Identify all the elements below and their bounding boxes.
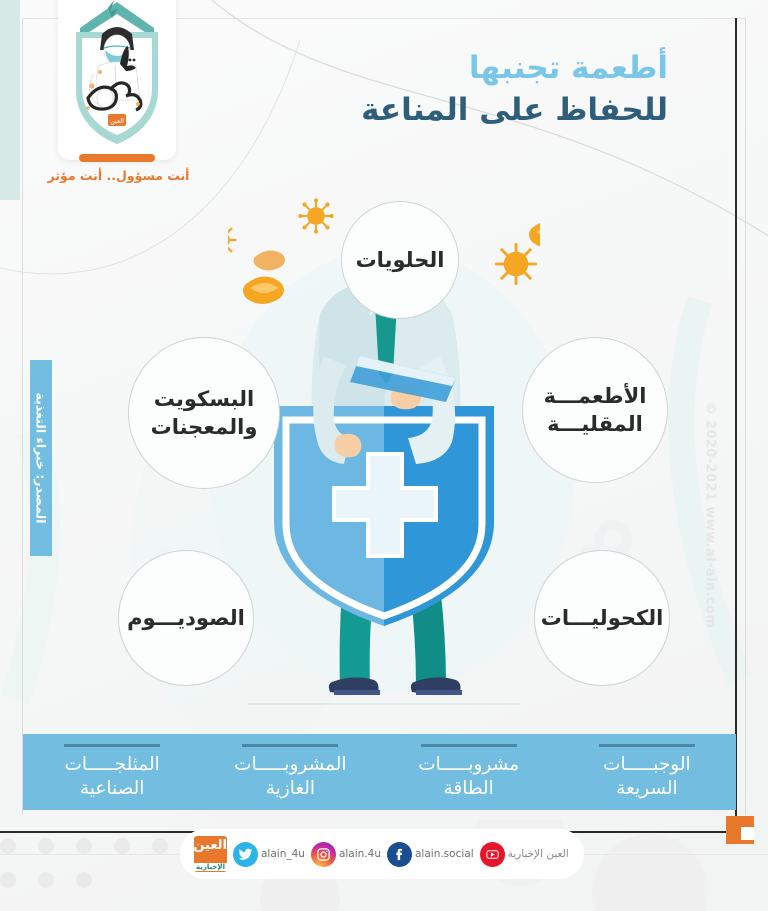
food-bubble-biscuits-pastries[interactable]: البسكويت والمعجنات <box>128 337 280 489</box>
bar-item-soft-drinks[interactable]: المشروبـــــات الغازية <box>201 734 379 800</box>
bar-item-label: مشروبـــــات الطاقة <box>380 753 558 800</box>
bar-item-rule <box>64 744 160 747</box>
social-account-twitter[interactable]: alain_4u <box>233 842 305 867</box>
page-title-line-2: للحفاظ على المناعة <box>361 94 668 127</box>
facebook-icon <box>387 842 412 867</box>
twitter-icon <box>233 842 258 867</box>
food-bubble-label: الحلويات <box>356 246 445 274</box>
social-handle: العين الإخبارية <box>508 848 569 860</box>
al-ain-logo-text: العين <box>194 838 227 853</box>
social-handle: alain.4u <box>339 848 381 860</box>
food-bubble-label: الكحوليـــات <box>541 604 664 632</box>
food-bubble-sodium[interactable]: الصوديـــوم <box>118 550 254 686</box>
source-label-text: المصدر: خبراء التغذية <box>34 393 49 524</box>
copyright-watermark-text: © 2020-2021 www.al-ain.com <box>703 402 718 629</box>
copyright-watermark: © 2020-2021 www.al-ain.com <box>700 420 720 610</box>
bar-item-industrial-ice[interactable]: المثلجـــــات الصناعية <box>23 734 201 800</box>
food-bubble-sweets[interactable]: الحلويات <box>341 201 459 319</box>
orange-corner-accent <box>726 816 754 844</box>
bar-item-energy-drinks[interactable]: مشروبـــــات الطاقة <box>380 734 558 800</box>
food-bubble-alcohol[interactable]: الكحوليـــات <box>534 550 670 686</box>
campaign-logo-card: العين <box>58 0 176 160</box>
page-title: أطعمة تجنبها للحفاظ على المناعة <box>361 52 668 128</box>
social-account-facebook[interactable]: alain.social <box>387 842 474 867</box>
svg-text:العين: العين <box>110 117 124 125</box>
food-bubble-label: الأطعمـــة المقليـــة <box>544 382 647 439</box>
bottom-items-bar: الوجبـــــات السريعة مشروبـــــات الطاقة… <box>23 734 736 810</box>
bar-item-rule <box>421 744 517 747</box>
food-bubble-label: البسكويت والمعجنات <box>151 385 258 442</box>
source-label-tab: المصدر: خبراء التغذية <box>30 360 52 556</box>
social-handle: alain_4u <box>261 848 305 860</box>
logo-underline-accent <box>79 154 155 162</box>
bar-item-label: الوجبـــــات السريعة <box>558 753 736 800</box>
instagram-icon <box>311 842 336 867</box>
al-ain-logo[interactable]: العين الإخبارية <box>194 836 227 872</box>
logo-tagline: أنت مسؤول.. أنت مؤثر <box>46 168 191 183</box>
responsibility-shield-badge-icon: العين <box>58 0 176 160</box>
bar-item-fast-food[interactable]: الوجبـــــات السريعة <box>558 734 736 800</box>
bar-item-label: المشروبـــــات الغازية <box>201 753 379 800</box>
food-bubble-label: الصوديـــوم <box>127 604 245 632</box>
bar-item-rule <box>242 744 338 747</box>
social-handle: alain.social <box>415 848 474 860</box>
social-account-youtube[interactable]: العين الإخبارية <box>480 842 569 867</box>
bar-item-rule <box>599 744 695 747</box>
social-account-instagram[interactable]: alain.4u <box>311 842 381 867</box>
frame-right-rule <box>735 18 737 833</box>
youtube-icon <box>480 842 505 867</box>
al-ain-logo-subtext: الإخبارية <box>194 863 227 871</box>
bar-item-label: المثلجـــــات الصناعية <box>23 753 201 800</box>
infographic-canvas: م ا <box>0 0 768 911</box>
social-footer-bar: العين الإخبارية alain_4u alain.4u alain.… <box>180 829 584 879</box>
food-bubble-fried-foods[interactable]: الأطعمـــة المقليـــة <box>522 337 668 483</box>
page-title-line-1: أطعمة تجنبها <box>361 52 668 85</box>
